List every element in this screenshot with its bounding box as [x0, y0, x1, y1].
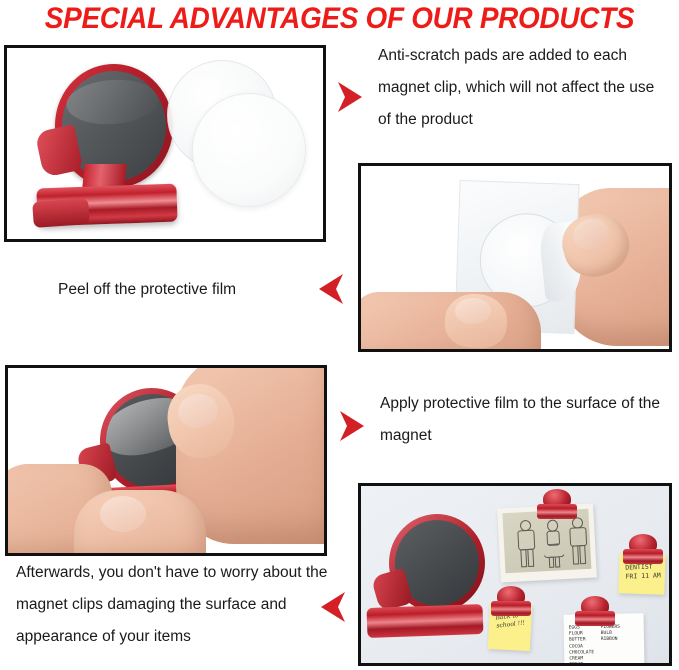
anti-scratch-pad-front	[192, 93, 306, 207]
figure-girl-middle	[541, 519, 565, 567]
photo-panel-step-2	[358, 163, 672, 352]
list-item: BREAD	[569, 662, 594, 666]
photo-panel-step-3	[5, 365, 327, 556]
magnet-clip-illustration	[31, 60, 181, 235]
step-4-text: Afterwards, you don't have to worry abou…	[16, 557, 336, 653]
chevron-right-icon-step-1	[332, 78, 370, 116]
shopping-list-column-left: EGGS FLOUR BUTTER COCOA CHOCOLATE CREAM …	[569, 625, 595, 666]
infographic-page: SPECIAL ADVANTAGES OF OUR PRODUCTS Anti-…	[0, 0, 679, 670]
clip-grip-bar-back	[32, 198, 90, 228]
clip-grip	[575, 611, 615, 626]
step-2-text: Peel off the protective film	[58, 274, 338, 306]
step-1-text: Anti-scratch pads are added to each magn…	[378, 40, 668, 136]
clip-on-back-to-school-note	[491, 586, 531, 620]
clip-grip	[491, 601, 531, 616]
large-clip-grip	[367, 604, 484, 638]
page-title: SPECIAL ADVANTAGES OF OUR PRODUCTS	[24, 2, 655, 36]
shopping-list-column-right: FLOWERS BULB RIBBON	[601, 625, 621, 666]
list-item: RIBBON	[601, 637, 620, 644]
figure-boy-left	[515, 520, 537, 569]
photo-fridge-scene: Back to school !!! DENTIST FRI 11 AM EGG…	[361, 486, 669, 663]
photo-clip-and-pads	[7, 48, 323, 239]
clip-on-shopping-list	[575, 596, 615, 630]
clip-on-dentist-note	[623, 534, 663, 568]
clip-on-framed-photo	[537, 489, 577, 523]
photo-panel-step-1	[4, 45, 326, 242]
photo-peeling-film	[361, 166, 669, 349]
clip-grip	[623, 549, 663, 564]
step-3-text: Apply protective film to the surface of …	[380, 388, 665, 452]
chevron-right-icon-step-3	[334, 407, 372, 445]
photo-panel-step-4: Back to school !!! DENTIST FRI 11 AM EGG…	[358, 483, 672, 666]
large-magnet-clip	[389, 514, 485, 639]
clip-grip	[537, 504, 577, 519]
left-thumbnail	[455, 298, 491, 324]
figure-boy-right	[567, 517, 590, 566]
photo-applying-film	[8, 368, 324, 553]
lower-thumbnail-step3	[100, 496, 146, 532]
